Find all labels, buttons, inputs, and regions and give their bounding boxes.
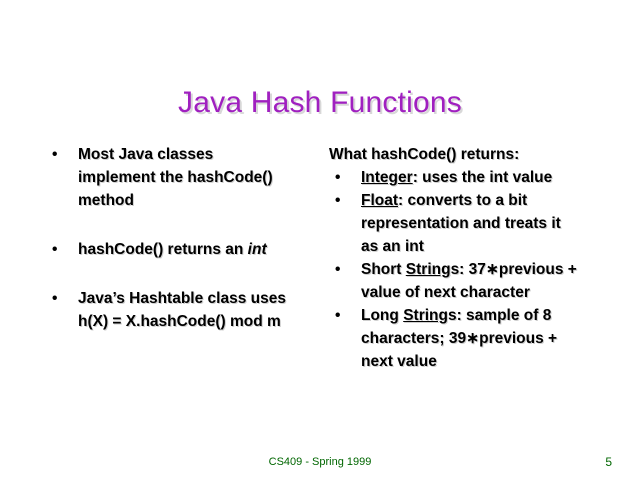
term-string-long: String bbox=[403, 307, 448, 324]
bullet-icon: • bbox=[335, 258, 345, 281]
list-item: • Integer: uses the int value bbox=[329, 166, 611, 189]
bullet-icon: • bbox=[52, 238, 62, 261]
bullet-icon: • bbox=[335, 304, 345, 327]
list-item-line: characters; 39∗previous + bbox=[361, 327, 611, 350]
italic-keyword: int bbox=[248, 241, 267, 258]
list-item-text: hashCode() returns an bbox=[78, 241, 248, 258]
list-item-text: s: sample of 8 bbox=[448, 307, 551, 324]
term-float: Float bbox=[361, 192, 398, 209]
list-item-text: s: 37∗previous + bbox=[451, 261, 577, 278]
list-item-line: representation and treats it bbox=[361, 212, 611, 235]
list-item-text: Short bbox=[361, 261, 406, 278]
list-item: • Java’s Hashtable class uses h(X) = X.h… bbox=[46, 287, 318, 333]
list-item-line: hashCode() returns an int bbox=[78, 238, 318, 261]
page-number: 5 bbox=[605, 455, 612, 469]
bullet-icon: • bbox=[335, 189, 345, 212]
list-item-line: next value bbox=[361, 350, 611, 373]
right-column: What hashCode() returns: • Integer: uses… bbox=[329, 143, 611, 373]
bullet-icon: • bbox=[52, 287, 62, 310]
term-integer: Integer bbox=[361, 169, 413, 186]
list-item: • hashCode() returns an int bbox=[46, 238, 318, 261]
list-item-text: : converts to a bit bbox=[398, 192, 527, 209]
list-item: • Float: converts to a bit representatio… bbox=[329, 189, 611, 258]
left-column: • Most Java classes implement the hashCo… bbox=[46, 143, 318, 333]
list-item-line: Short Strings: 37∗previous + bbox=[361, 258, 611, 281]
bullet-icon: • bbox=[52, 143, 62, 166]
list-item-line: implement the hashCode() bbox=[78, 166, 318, 189]
slide: Java Hash Functions • Most Java classes … bbox=[0, 0, 640, 480]
list-item-line: Java’s Hashtable class uses bbox=[78, 287, 318, 310]
list-item-line: value of next character bbox=[361, 281, 611, 304]
right-column-header: What hashCode() returns: bbox=[329, 143, 611, 166]
list-item: • Most Java classes implement the hashCo… bbox=[46, 143, 318, 212]
bullet-icon: • bbox=[335, 166, 345, 189]
list-item: • Long Strings: sample of 8 characters; … bbox=[329, 304, 611, 373]
list-item: • Short Strings: 37∗previous + value of … bbox=[329, 258, 611, 304]
list-item-line: h(X) = X.hashCode() mod m bbox=[78, 310, 318, 333]
list-item-line: Integer: uses the int value bbox=[361, 166, 611, 189]
page-title: Java Hash Functions bbox=[0, 86, 640, 120]
footer-text: CS409 - Spring 1999 bbox=[0, 456, 640, 468]
list-item-line: method bbox=[78, 189, 318, 212]
list-item-line: Most Java classes bbox=[78, 143, 318, 166]
list-item-text: : uses the int value bbox=[413, 169, 553, 186]
term-string-short: String bbox=[406, 261, 451, 278]
list-item-text: Long bbox=[361, 307, 403, 324]
list-item-line: Long Strings: sample of 8 bbox=[361, 304, 611, 327]
list-item-line: as an int bbox=[361, 235, 611, 258]
list-item-line: Float: converts to a bit bbox=[361, 189, 611, 212]
